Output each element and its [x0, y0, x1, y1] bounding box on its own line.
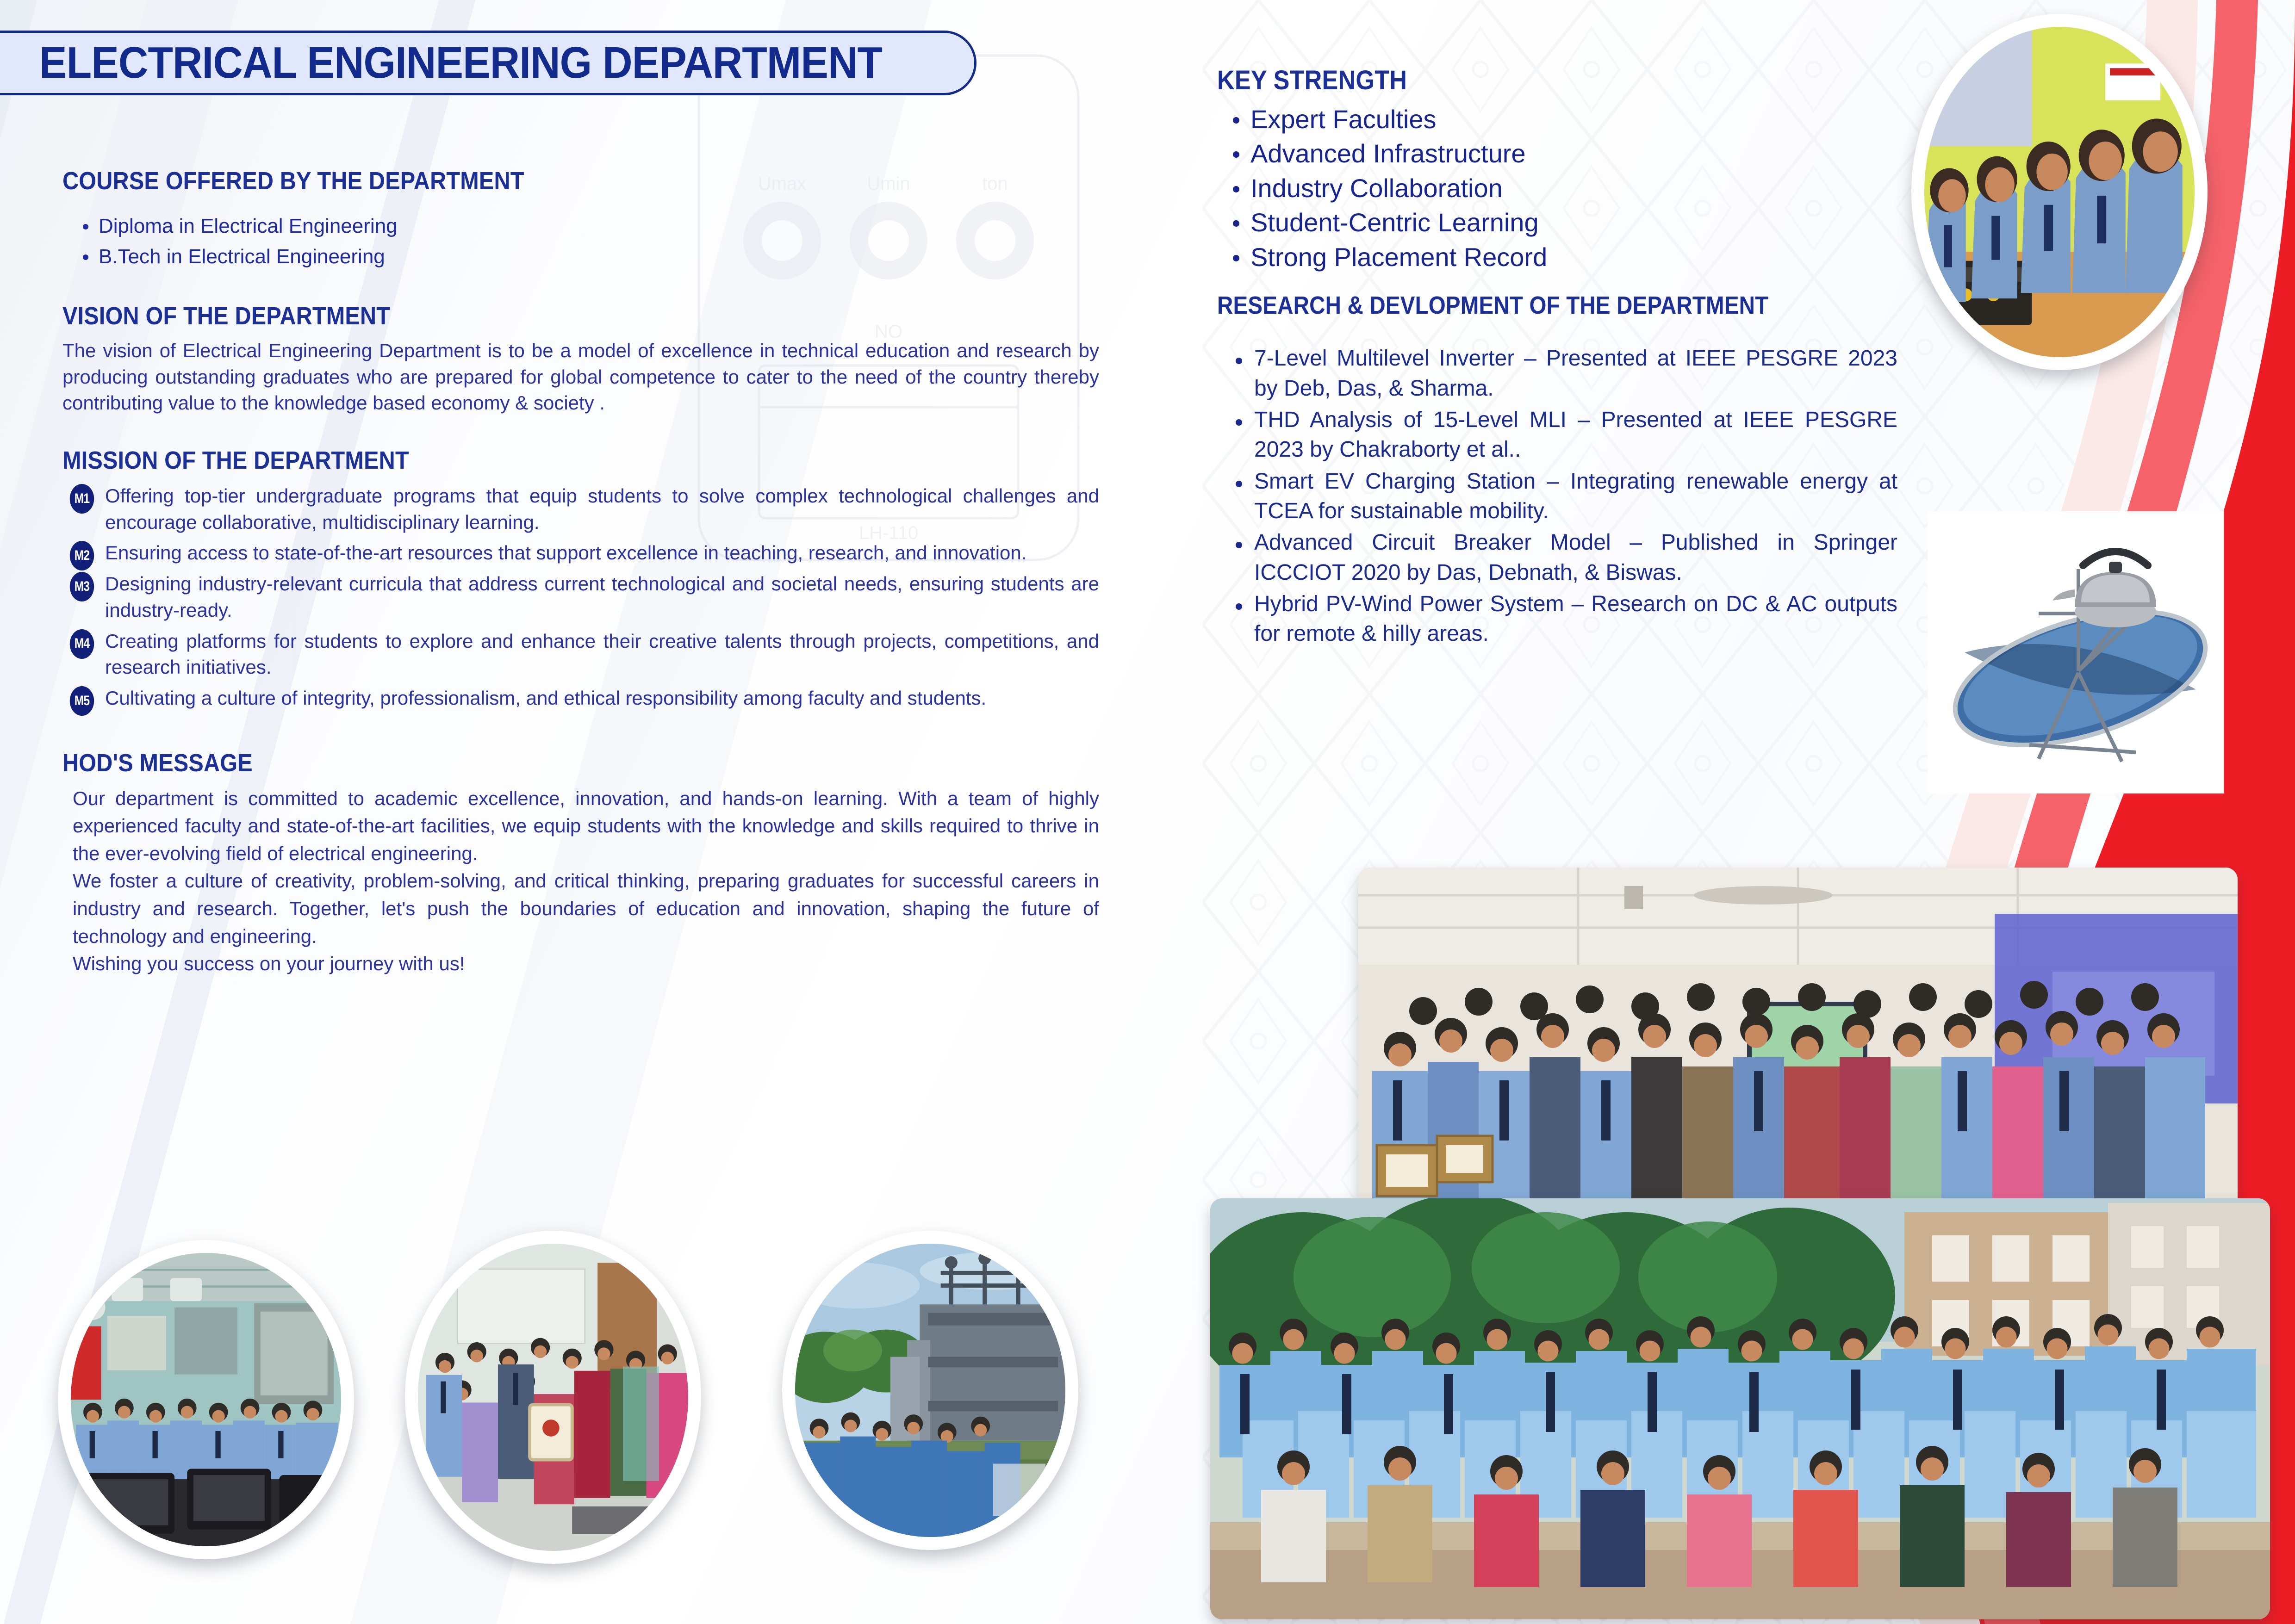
- mission-badge: M5: [70, 686, 94, 716]
- research-item: Smart EV Charging Station – Integrating …: [1217, 467, 1897, 527]
- course-heading: COURSE OFFERED BY THE DEPARTMENT: [62, 167, 995, 195]
- mission-list: M1 Offering top-tier undergraduate progr…: [62, 483, 1099, 712]
- mission-text: Cultivating a culture of integrity, prof…: [105, 687, 986, 709]
- course-item: B.Tech in Electrical Engineering: [62, 242, 1099, 272]
- substation-transformer-visit-circle: [782, 1231, 1078, 1550]
- key-strength-list: Expert Faculties Advanced Infrastructure…: [1217, 102, 1897, 274]
- mission-heading: MISSION OF THE DEPARTMENT: [62, 446, 995, 475]
- course-section: COURSE OFFERED BY THE DEPARTMENT Diploma…: [62, 167, 1099, 272]
- mission-text: Creating platforms for students to explo…: [105, 630, 1099, 678]
- mission-item: M3 Designing industry-relevant curricula…: [62, 571, 1099, 623]
- mission-badge: M4: [70, 629, 94, 659]
- vision-heading: VISION OF THE DEPARTMENT: [62, 302, 995, 330]
- mission-item: M1 Offering top-tier undergraduate progr…: [62, 483, 1099, 535]
- hod-section: HOD'S MESSAGE Our department is committe…: [62, 749, 1099, 978]
- course-list: Diploma in Electrical Engineering B.Tech…: [62, 211, 1099, 272]
- faculty-award-ceremony-circle: [405, 1231, 701, 1564]
- mission-badge: M1: [70, 484, 94, 514]
- page-title: ELECTRICAL ENGINEERING DEPARTMENT: [39, 37, 882, 88]
- mission-text: Offering top-tier undergraduate programs…: [105, 485, 1099, 533]
- key-strength-item: Strong Placement Record: [1217, 240, 1897, 274]
- research-section: RESEARCH & DEVLOPMENT OF THE DEPARTMENT …: [1217, 291, 1897, 649]
- computer-lab-students-circle: [58, 1240, 354, 1559]
- department-group-photo-outdoor: [1210, 1198, 2270, 1619]
- students-at-lab-bench-circle: [1911, 14, 2208, 370]
- mission-item: M2 Ensuring access to state-of-the-art r…: [62, 540, 1099, 566]
- research-item: Hybrid PV-Wind Power System – Research o…: [1217, 589, 1897, 649]
- solar-parabolic-dish-cooker: [1928, 511, 2224, 793]
- mission-badge: M2: [70, 541, 94, 570]
- mission-section: MISSION OF THE DEPARTMENT M1 Offering to…: [62, 446, 1099, 712]
- course-item: Diploma in Electrical Engineering: [62, 211, 1099, 242]
- hod-heading: HOD'S MESSAGE: [62, 749, 995, 777]
- research-item: THD Analysis of 15-Level MLI – Presented…: [1217, 405, 1897, 465]
- vision-text: The vision of Electrical Engineering Dep…: [62, 338, 1099, 416]
- hod-paragraph: Wishing you success on your journey with…: [73, 950, 1099, 978]
- hod-paragraph: Our department is committed to academic …: [73, 785, 1099, 868]
- hod-body: Our department is committed to academic …: [62, 785, 1099, 978]
- key-strength-section: KEY STRENGTH Expert Faculties Advanced I…: [1217, 65, 1897, 274]
- key-strength-heading: KEY STRENGTH: [1217, 65, 1829, 96]
- mission-text: Ensuring access to state-of-the-art reso…: [105, 542, 1026, 564]
- mission-item: M4 Creating platforms for students to ex…: [62, 628, 1099, 681]
- key-strength-item: Student-Centric Learning: [1217, 205, 1897, 240]
- mission-text: Designing industry-relevant curricula th…: [105, 573, 1099, 621]
- mission-item: M5 Cultivating a culture of integrity, p…: [62, 685, 1099, 712]
- hod-paragraph: We foster a culture of creativity, probl…: [73, 867, 1099, 950]
- key-strength-item: Expert Faculties: [1217, 102, 1897, 136]
- research-item: 7-Level Multilevel Inverter – Presented …: [1217, 344, 1897, 403]
- research-list: 7-Level Multilevel Inverter – Presented …: [1217, 344, 1897, 649]
- mission-badge: M3: [70, 572, 94, 601]
- research-heading: RESEARCH & DEVLOPMENT OF THE DEPARTMENT: [1217, 291, 1816, 320]
- right-column: KEY STRENGTH Expert Faculties Advanced I…: [1217, 65, 1897, 651]
- key-strength-item: Industry Collaboration: [1217, 171, 1897, 205]
- seminar-hall-group-photo: [1358, 868, 2238, 1219]
- research-item: Advanced Circuit Breaker Model – Publish…: [1217, 528, 1897, 588]
- page-title-pill: ELECTRICAL ENGINEERING DEPARTMENT: [0, 31, 976, 95]
- poster-canvas: UmaxUminton NOLH-110 ELECTRICAL ENGINEER…: [0, 0, 2295, 1624]
- left-column: COURSE OFFERED BY THE DEPARTMENT Diploma…: [62, 167, 1099, 978]
- key-strength-item: Advanced Infrastructure: [1217, 136, 1897, 171]
- vision-section: VISION OF THE DEPARTMENT The vision of E…: [62, 302, 1099, 416]
